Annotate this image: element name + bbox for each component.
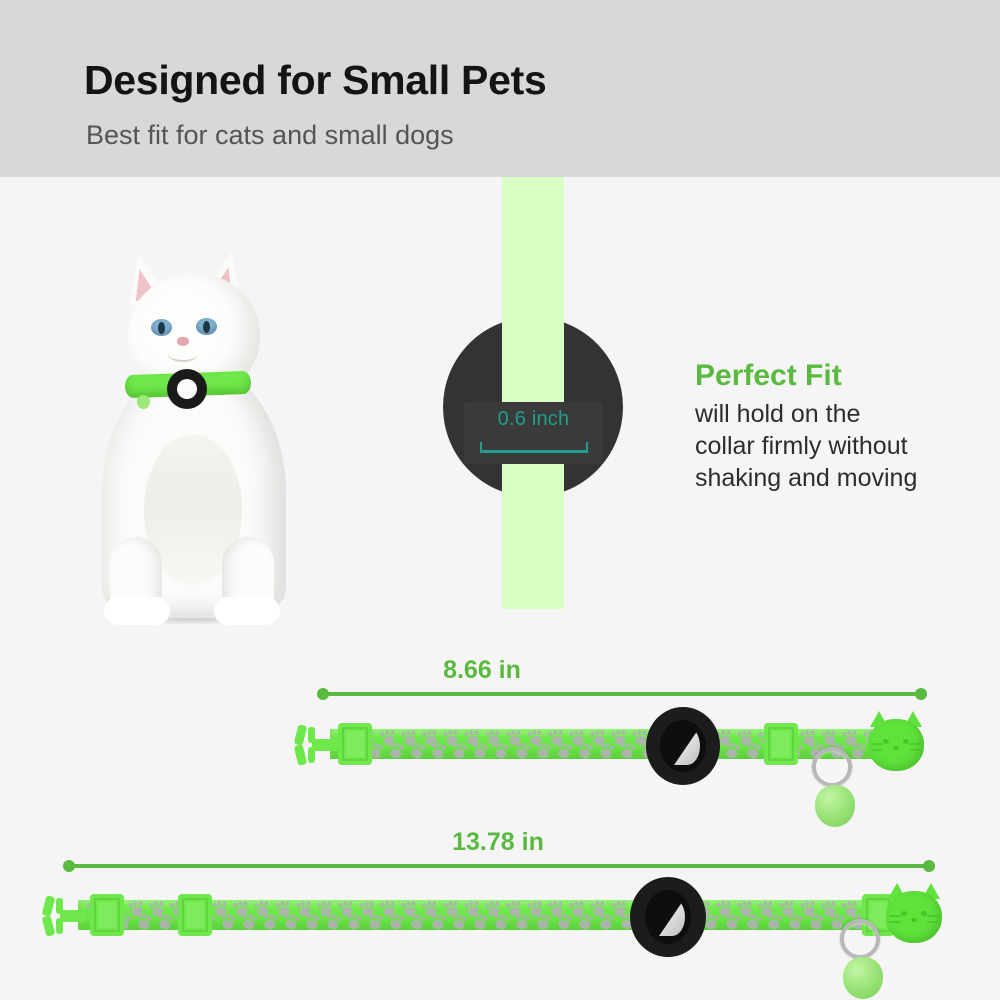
collar-diagram-large: 13.78 in bbox=[0, 177, 1000, 477]
split-ring-large bbox=[840, 919, 880, 959]
page-subtitle: Best fit for cats and small dogs bbox=[86, 120, 454, 151]
slider-buckle-small-left bbox=[338, 723, 372, 765]
main-content: 0.6 inch Perfect Fit will hold on the co… bbox=[0, 177, 1000, 1000]
cat-paw-left bbox=[104, 597, 170, 625]
measurement-dot-right-small bbox=[915, 688, 927, 700]
cat-face-charm-large bbox=[884, 883, 944, 945]
measurement-dot-left-large bbox=[63, 860, 75, 872]
measurement-dot-left-small bbox=[317, 688, 329, 700]
bell-charm-large bbox=[843, 957, 883, 999]
airtag-holder-small bbox=[646, 707, 720, 785]
paw-print-pattern-small bbox=[336, 729, 884, 759]
measurement-line-small bbox=[322, 692, 922, 696]
measurement-label-small: 8.66 in bbox=[0, 656, 964, 685]
slider-buckle-large-1 bbox=[90, 894, 124, 936]
cat-face-charm-small bbox=[866, 711, 926, 773]
split-ring-small bbox=[812, 747, 852, 787]
airtag-holder-large bbox=[630, 877, 706, 957]
slider-buckle-small-right bbox=[764, 723, 798, 765]
bell-charm-small bbox=[815, 785, 855, 827]
measurement-label-large: 13.78 in bbox=[0, 828, 996, 857]
measurement-line-large bbox=[68, 864, 930, 868]
product-infographic: Designed for Small Pets Best fit for cat… bbox=[0, 0, 1000, 1000]
page-title: Designed for Small Pets bbox=[84, 57, 546, 104]
breakaway-clasp-small bbox=[296, 725, 336, 765]
measurement-dot-right-large bbox=[923, 860, 935, 872]
slider-buckle-large-2 bbox=[178, 894, 212, 936]
cat-paw-right bbox=[214, 597, 280, 625]
header-banner: Designed for Small Pets Best fit for cat… bbox=[0, 0, 1000, 177]
breakaway-clasp-large bbox=[44, 896, 84, 936]
